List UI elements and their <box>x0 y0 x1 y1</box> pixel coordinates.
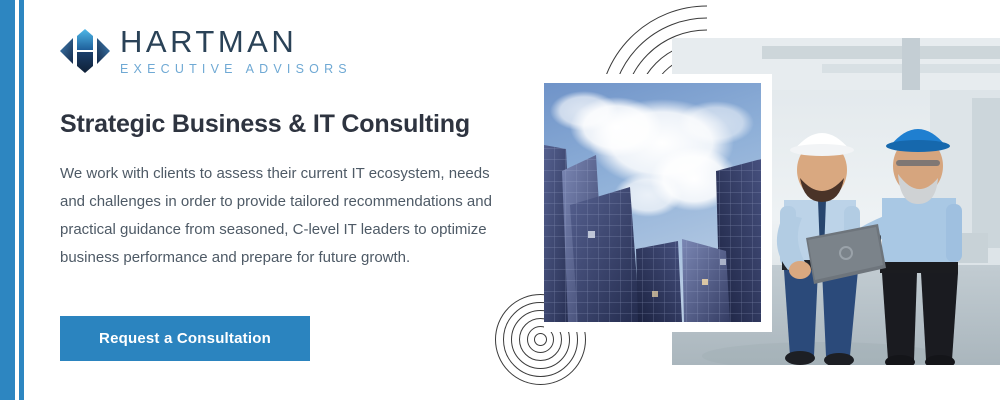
hartman-h-arrows-icon <box>60 28 110 74</box>
page-title: Strategic Business & IT Consulting <box>60 110 470 139</box>
brand-logo[interactable]: HARTMAN EXECUTIVE ADVISORS <box>60 26 352 76</box>
hero-banner: HARTMAN EXECUTIVE ADVISORS Strategic Bus… <box>0 0 1000 400</box>
brand-tagline: EXECUTIVE ADVISORS <box>120 63 352 76</box>
brand-logo-text: HARTMAN EXECUTIVE ADVISORS <box>120 26 352 76</box>
brand-name: HARTMAN <box>120 26 352 57</box>
request-consultation-button[interactable]: Request a Consultation <box>60 316 310 361</box>
left-accent-stripe-thin <box>19 0 24 400</box>
hero-description: We work with clients to assess their cur… <box>60 160 500 272</box>
hero-content: HARTMAN EXECUTIVE ADVISORS Strategic Bus… <box>60 0 530 400</box>
left-accent-stripe-thick <box>0 0 15 400</box>
building-photo <box>544 83 761 322</box>
hero-artwork <box>490 0 1000 400</box>
